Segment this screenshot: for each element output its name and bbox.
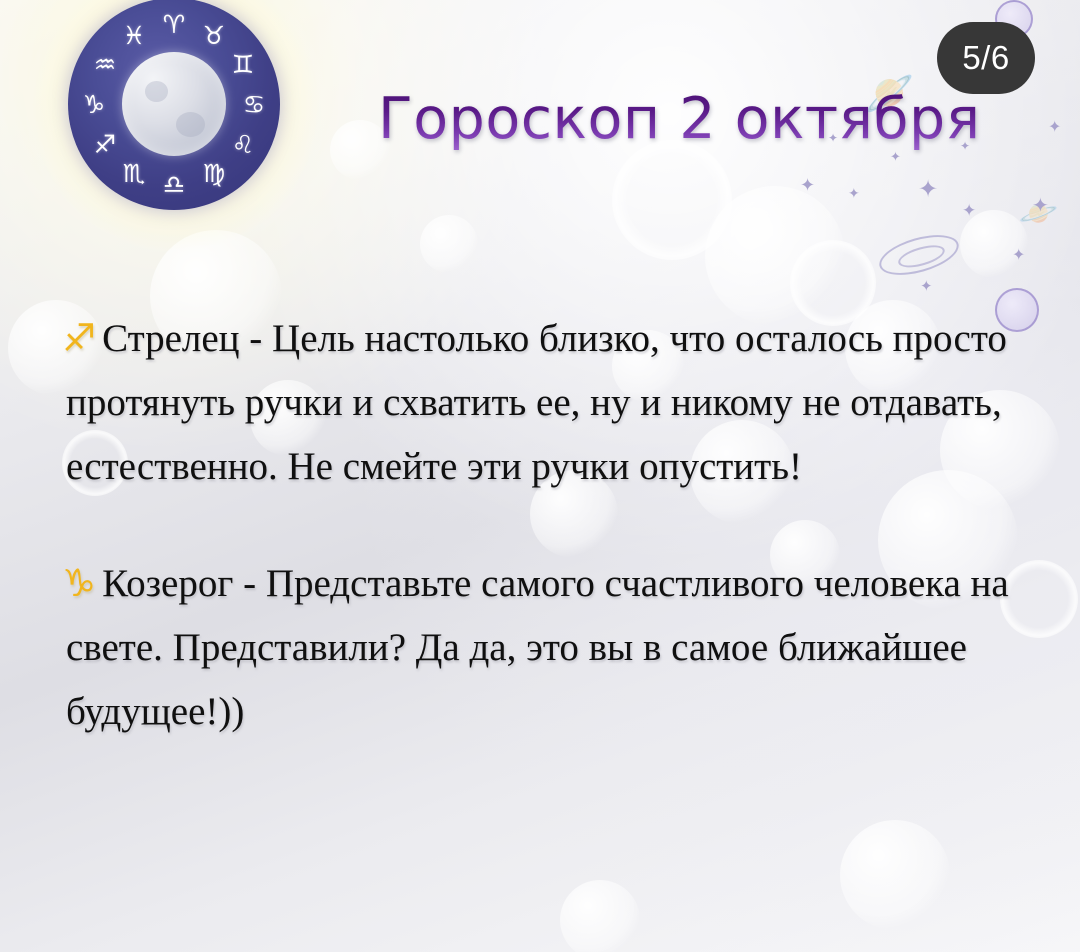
scorpio-icon: ♏	[121, 160, 147, 186]
sagittarius-icon: ♐	[62, 316, 102, 360]
zodiac-wheel: ♈ ♉ ♊ ♋ ♌ ♍ ♎ ♏ ♐ ♑ ♒ ♓	[52, 0, 296, 222]
star-icon: ✦	[1032, 196, 1049, 216]
star-icon: ✦	[962, 202, 976, 219]
saturn-icon: 🪐	[1018, 198, 1059, 233]
star-icon: ✦	[918, 178, 938, 202]
cancer-icon: ♋	[241, 91, 267, 117]
bokeh-circle	[420, 215, 478, 273]
horoscope-content: ♐Стрелец - Цель настолько близко, что ос…	[66, 306, 1066, 744]
horoscope-text: Козерог - Представьте самого счастливого…	[66, 562, 1009, 733]
horoscope-entry-sagittarius: ♐Стрелец - Цель настолько близко, что ос…	[66, 306, 1066, 499]
aquarius-icon: ♒	[92, 51, 118, 77]
wheel-ring: ♈ ♉ ♊ ♋ ♌ ♍ ♎ ♏ ♐ ♑ ♒ ♓	[68, 0, 280, 210]
taurus-icon: ♉	[201, 22, 227, 48]
bokeh-circle	[560, 880, 640, 952]
capricorn-icon: ♑	[62, 561, 102, 605]
star-icon: ✦	[800, 176, 815, 194]
horoscope-entry-capricorn: ♑Козерог - Представьте самого счастливог…	[66, 551, 1066, 744]
page-counter-badge: 5/6	[937, 22, 1035, 94]
pisces-icon: ♓	[121, 22, 147, 48]
bokeh-ring	[612, 140, 732, 260]
sagittarius-icon: ♐	[92, 131, 118, 157]
aries-icon: ♈	[161, 11, 187, 37]
star-icon: ✦	[1048, 120, 1061, 136]
gemini-icon: ♊	[230, 51, 256, 77]
horoscope-text: Стрелец - Цель настолько близко, что ост…	[66, 317, 1007, 488]
star-icon: ✦	[848, 188, 860, 202]
horoscope-slide: 🪐 🪐 ✦ ✦ ✦ ✦ ✦ ✦ ✦ ✦ ✦ ✦ ✦ ♈ ♉ ♊ ♋ ♌ ♍ ♎ …	[0, 0, 1080, 952]
capricorn-icon: ♑	[81, 91, 107, 117]
bokeh-circle	[840, 820, 950, 930]
page-title: Гороскоп 2 октября	[378, 86, 981, 152]
star-icon: ✦	[1012, 248, 1025, 264]
bokeh-circle	[960, 210, 1028, 278]
leo-icon: ♌	[230, 131, 256, 157]
virgo-icon: ♍	[201, 160, 227, 186]
libra-icon: ♎	[161, 171, 187, 197]
star-icon: ✦	[920, 280, 933, 295]
moon-icon	[122, 52, 226, 156]
galaxy-decoration	[875, 227, 963, 282]
bokeh-circle	[705, 186, 845, 326]
